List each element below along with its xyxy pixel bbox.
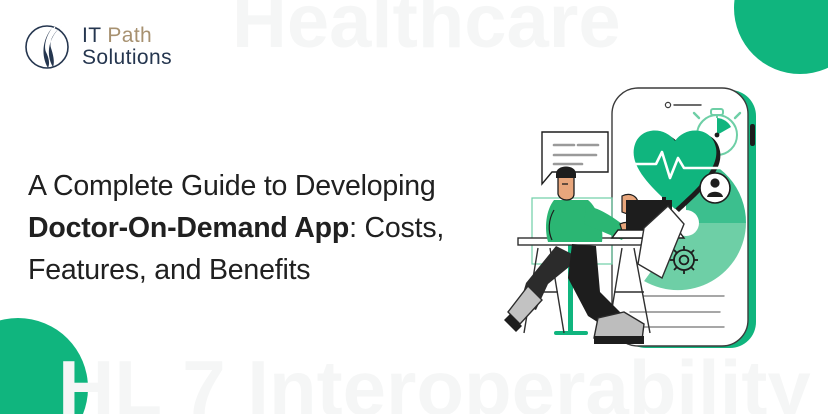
logo-text-it: IT [82,24,107,47]
headline-segment-1: A Complete Guide to Developing [28,170,436,202]
logo-text-solutions: Solutions [82,47,172,69]
user-icon [700,173,730,203]
logo-mark-icon [22,20,76,74]
page-title: A Complete Guide to Developing Doctor-On… [28,165,528,291]
banner-root: Healthcare HL 7 Interoperability IT Path… [0,0,828,414]
logo-text-path: Path [107,24,152,47]
watermark-top: Healthcare [232,0,621,65]
logo-wordmark: IT Path Solutions [82,25,172,70]
phone-side-button [750,124,755,146]
logo[interactable]: IT Path Solutions [22,20,172,74]
hero-illustration [498,78,828,362]
illustration-svg [498,78,828,362]
desk-pole-base [554,331,588,335]
headline-segment-bold: Doctor-On-Demand App [28,212,349,244]
decorative-circle-top-right [734,0,828,74]
